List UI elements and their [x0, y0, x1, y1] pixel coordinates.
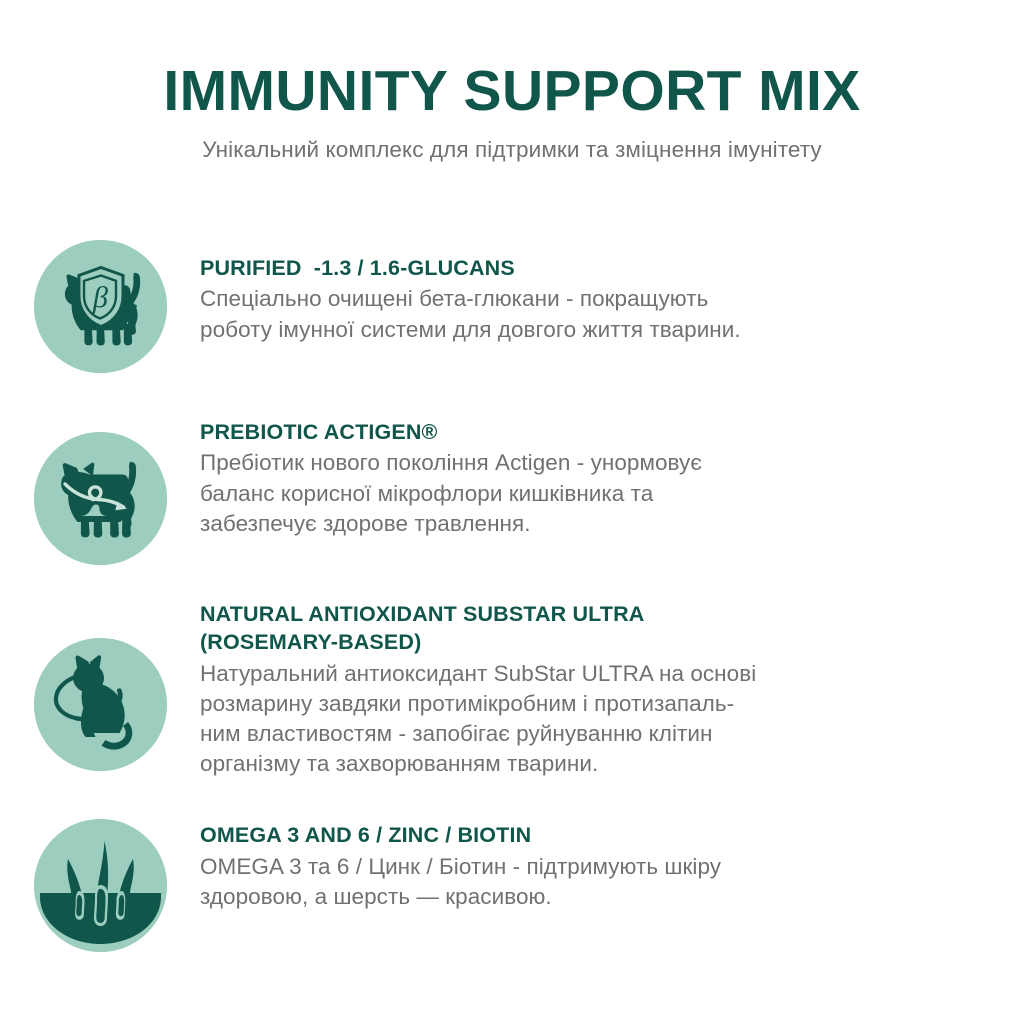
feature-body: Пребіотик нового покоління Actigen - уно… — [200, 448, 954, 538]
hair-follicles-skin-icon — [34, 819, 167, 952]
feature-list: β PURIFIED -1.3 / 1.6-GLUCANS Спеціально… — [0, 232, 1024, 952]
feature-item-prebiotic-actigen: PREBIOTIC ACTIGEN® Пребіотик нового поко… — [0, 418, 1024, 565]
page-title: IMMUNITY SUPPORT MIX — [0, 62, 1024, 122]
feature-text-block: PREBIOTIC ACTIGEN® Пребіотик нового поко… — [200, 418, 1024, 539]
feature-body: Спеціально очищені бета-глюкани - покращ… — [200, 284, 954, 344]
feature-heading: PURIFIED -1.3 / 1.6-GLUCANS — [200, 254, 954, 282]
feature-heading: PREBIOTIC ACTIGEN® — [200, 418, 954, 446]
feature-item-purified-glucans: β PURIFIED -1.3 / 1.6-GLUCANS Спеціально… — [0, 232, 1024, 373]
feature-item-natural-antioxidant: NATURAL ANTIOXIDANT SUBSTAR ULTRA (ROSEM… — [0, 600, 1024, 779]
cat-antioxidant-orbit-icon — [34, 638, 167, 771]
feature-heading: OMEGA 3 AND 6 / ZINC / BIOTIN — [200, 821, 954, 849]
feature-heading: NATURAL ANTIOXIDANT SUBSTAR ULTRA (ROSEM… — [200, 600, 954, 657]
feature-icon-container — [0, 819, 200, 952]
feature-icon-container — [0, 638, 200, 771]
header: IMMUNITY SUPPORT MIX Унікальний комплекс… — [0, 0, 1024, 163]
feature-body: Натуральний антиоксидант SubStar ULTRA н… — [200, 659, 954, 780]
feature-icon-container — [0, 432, 200, 565]
feature-item-omega-zinc-biotin: OMEGA 3 AND 6 / ZINC / BIOTIN OMEGA 3 та… — [0, 809, 1024, 952]
page-subtitle: Унікальний комплекс для підтримки та змі… — [0, 136, 1024, 163]
feature-text-block: NATURAL ANTIOXIDANT SUBSTAR ULTRA (ROSEM… — [200, 600, 1024, 779]
feature-body: OMEGA 3 та 6 / Цинк / Біотин - підтримую… — [200, 852, 954, 912]
infographic-page: IMMUNITY SUPPORT MIX Унікальний комплекс… — [0, 0, 1024, 1024]
svg-text:β: β — [92, 281, 108, 314]
cat-shield-beta-icon: β — [34, 240, 167, 373]
feature-icon-container: β — [0, 240, 200, 373]
feature-text-block: OMEGA 3 AND 6 / ZINC / BIOTIN OMEGA 3 та… — [200, 809, 1024, 912]
feature-text-block: PURIFIED -1.3 / 1.6-GLUCANS Спеціально о… — [200, 232, 1024, 345]
cat-digestion-arrow-icon — [34, 432, 167, 565]
